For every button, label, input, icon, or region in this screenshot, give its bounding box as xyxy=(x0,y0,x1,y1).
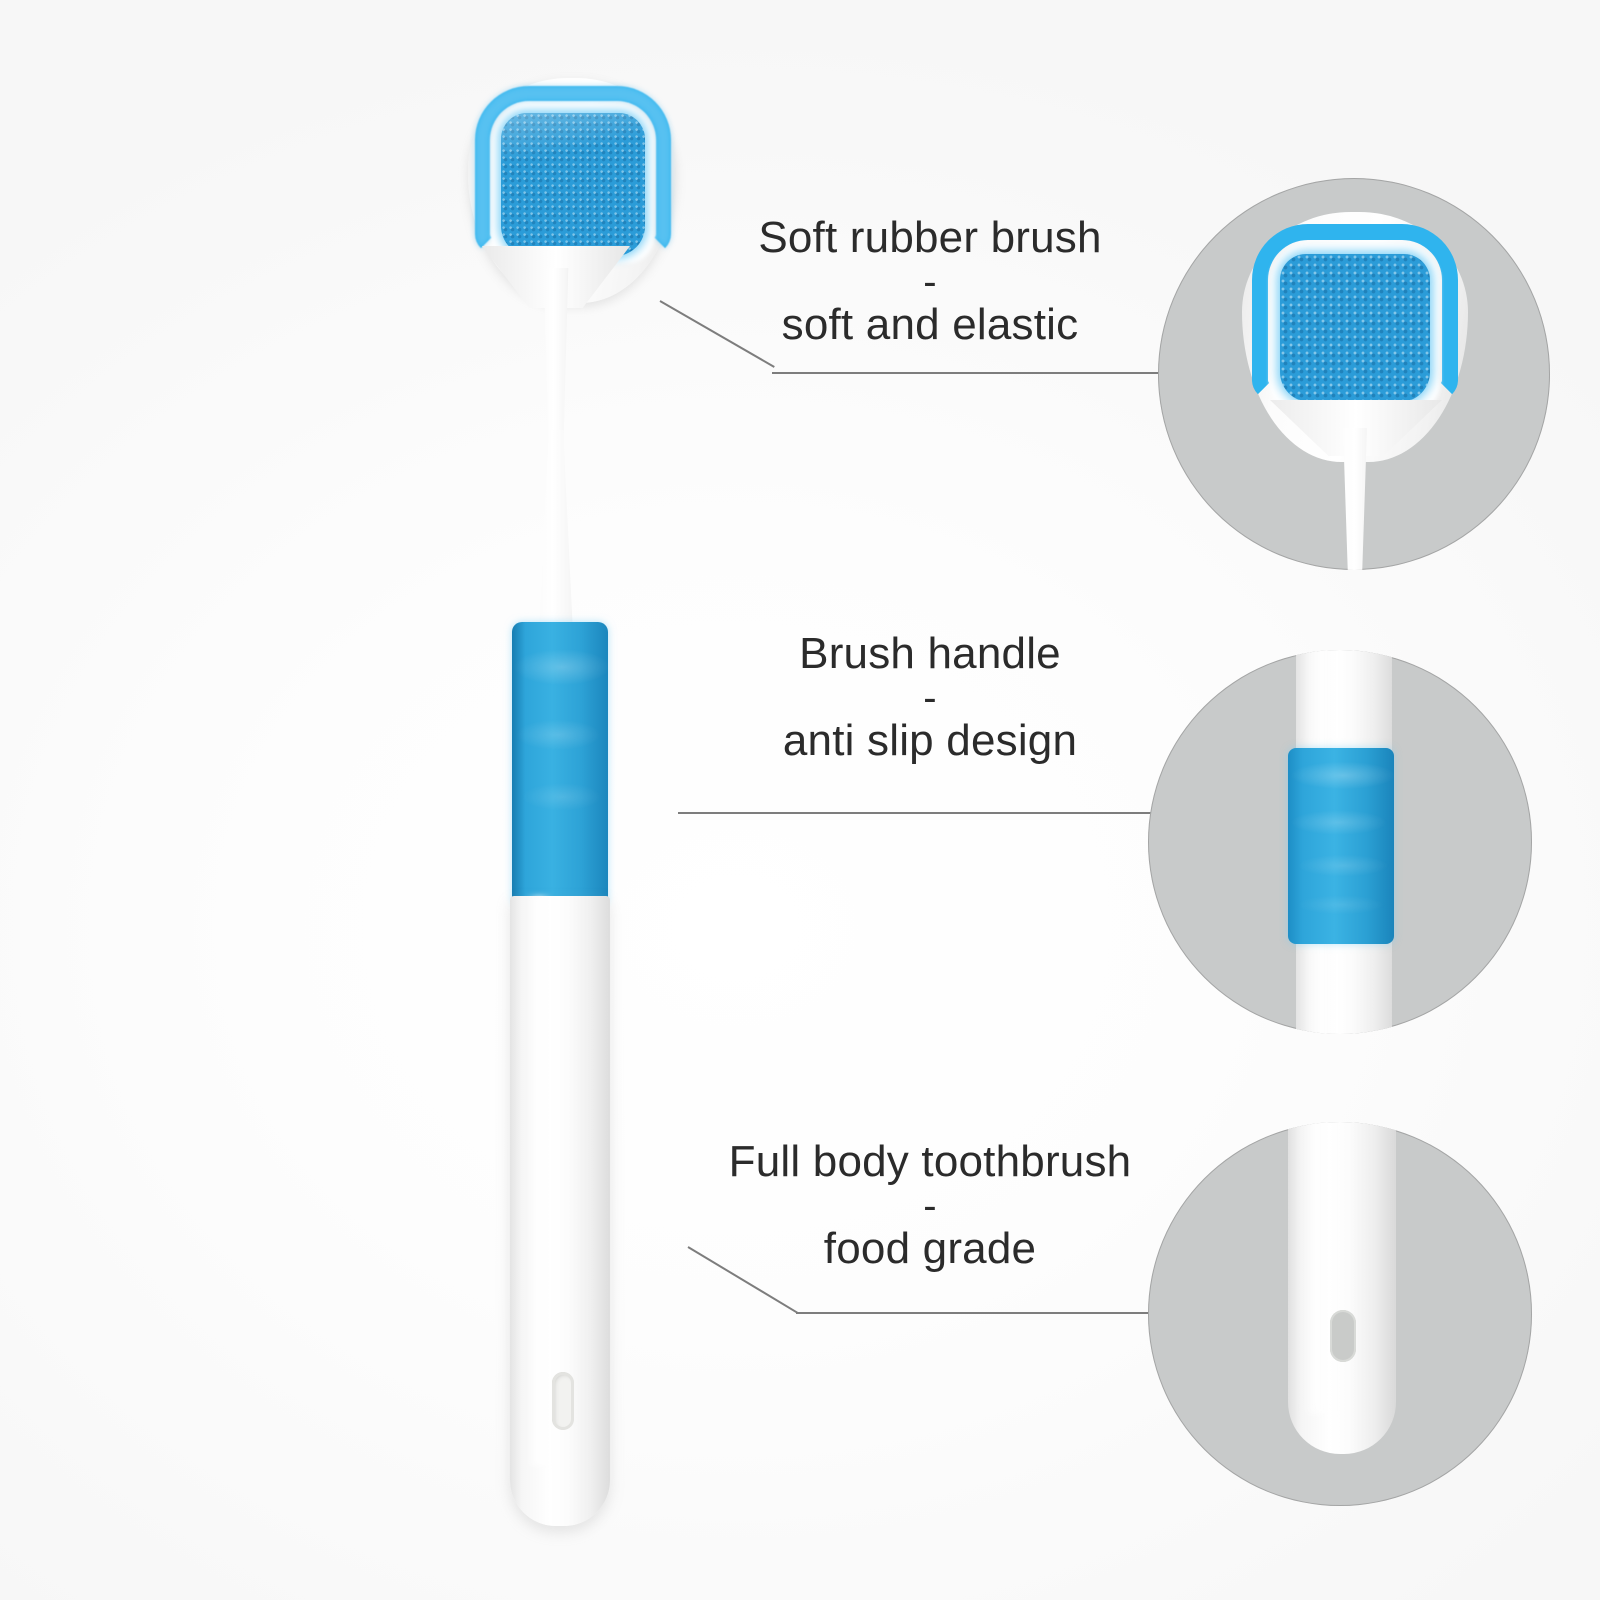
feature-title: Soft rubber brush xyxy=(758,213,1101,262)
detail-circle-brush-handle xyxy=(1148,650,1532,1034)
infographic-canvas: Soft rubber brush - soft and elastic Bru… xyxy=(0,0,1600,1600)
feature-subtitle: soft and elastic xyxy=(782,300,1079,349)
detail-circle-brush-head xyxy=(1158,178,1550,570)
zoom-hanging-hole-icon xyxy=(1330,1310,1356,1362)
feature-label-soft-rubber-brush: Soft rubber brush - soft and elastic xyxy=(700,212,1160,352)
zoom-handle-body xyxy=(1288,1122,1396,1454)
feature-subtitle: anti slip design xyxy=(783,716,1077,765)
feature-separator: - xyxy=(700,265,1160,299)
zoom-anti-slip-grip-icon xyxy=(1288,748,1394,944)
feature-label-full-body-toothbrush: Full body toothbrush - food grade xyxy=(680,1136,1180,1276)
feature-label-brush-handle: Brush handle - anti slip design xyxy=(700,628,1160,768)
feature-separator: - xyxy=(700,681,1160,715)
anti-slip-grip xyxy=(512,622,608,904)
feature-separator: - xyxy=(680,1189,1180,1223)
handle-body xyxy=(510,896,610,1526)
zoom-bristle-pad-icon xyxy=(1280,254,1430,402)
product-toothbrush xyxy=(430,70,710,1550)
detail-circle-handle-end xyxy=(1148,1122,1532,1506)
brush-neck-lower xyxy=(526,430,586,630)
feature-title: Brush handle xyxy=(799,629,1061,678)
feature-title: Full body toothbrush xyxy=(729,1137,1132,1186)
feature-subtitle: food grade xyxy=(824,1224,1036,1273)
rubber-bristle-pad-icon xyxy=(501,113,645,256)
hanging-hole-icon xyxy=(552,1372,574,1430)
